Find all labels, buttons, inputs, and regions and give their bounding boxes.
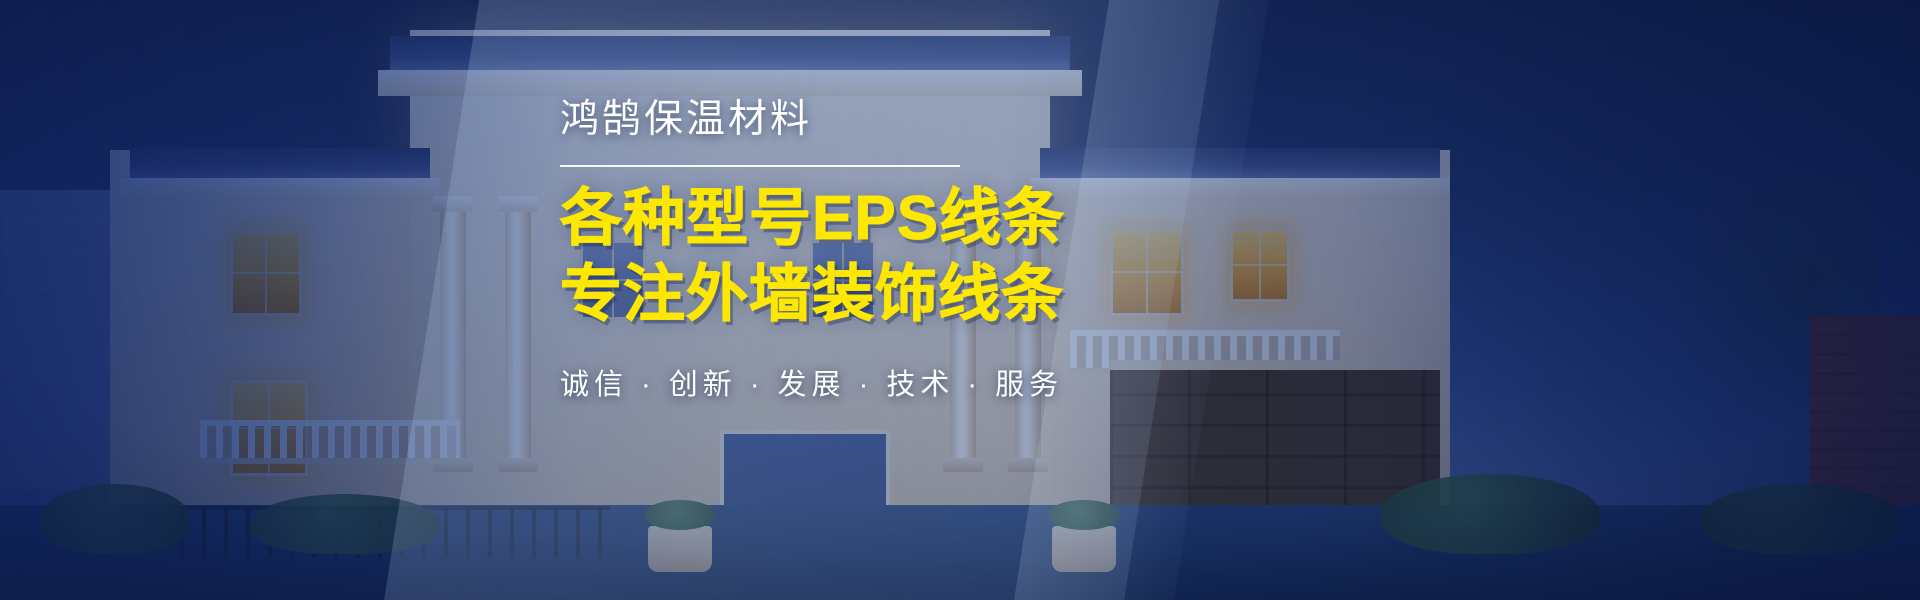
banner-text-block: 鸿鹄保温材料 各种型号EPS线条 专注外墙装饰线条 诚信 · 创新 · 发展 ·… (560, 96, 1320, 403)
tagline: 诚信 · 创新 · 发展 · 技术 · 服务 (560, 361, 1320, 403)
headline-line-1: 各种型号EPS线条 (560, 183, 1320, 255)
title-divider (560, 165, 960, 167)
headline-line-2: 专注外墙装饰线条 (560, 259, 1320, 331)
brand-name: 鸿鹄保温材料 (560, 96, 1320, 145)
hero-banner: 鸿鹄保温材料 各种型号EPS线条 专注外墙装饰线条 诚信 · 创新 · 发展 ·… (0, 0, 1920, 600)
